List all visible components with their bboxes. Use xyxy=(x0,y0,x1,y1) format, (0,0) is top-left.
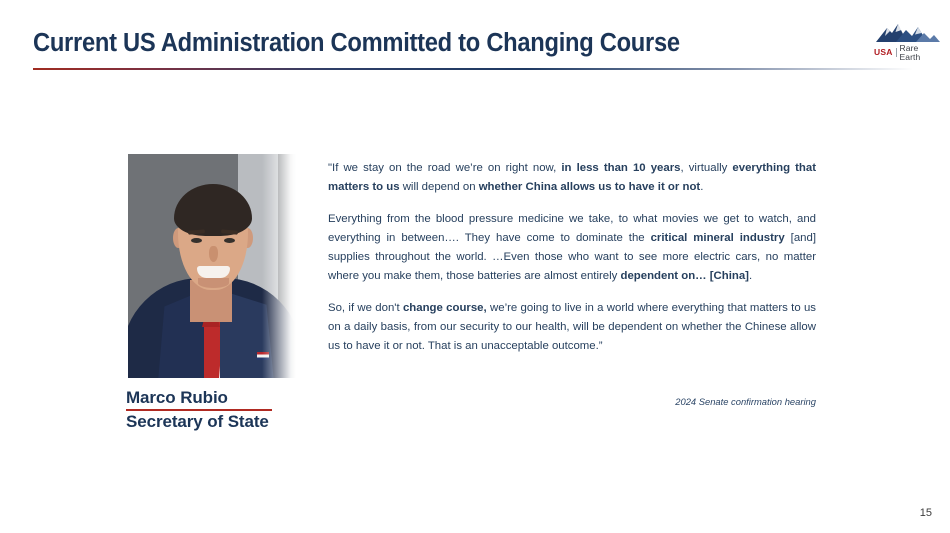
title-divider xyxy=(33,68,913,70)
quote-p2-seg2-bold: critical mineral industry xyxy=(651,232,785,244)
mountain-range-icon xyxy=(874,21,940,43)
portrait-image xyxy=(128,154,296,378)
quote-p1-seg7: . xyxy=(700,181,703,193)
quote-p3-seg2-bold: change course, xyxy=(403,302,487,314)
portrait-caption-name: Marco Rubio xyxy=(126,388,228,408)
portrait-nose xyxy=(209,246,218,262)
quote-p1-seg1: "If we stay on the road we’re on right n… xyxy=(328,162,561,174)
quote-p3-seg1: So, if we don't xyxy=(328,302,403,314)
logo-divider xyxy=(896,48,897,57)
quote-p2-seg5: . xyxy=(749,270,752,282)
quote-p1-seg2-bold: in less than 10 years xyxy=(561,162,680,174)
portrait-eye-left xyxy=(191,238,202,243)
logo-rare-earth-text: Rare Earth xyxy=(900,44,940,61)
portrait-photo xyxy=(128,154,296,378)
quote-paragraph-1: "If we stay on the road we’re on right n… xyxy=(328,159,816,197)
portrait-eye-right xyxy=(224,238,235,243)
usa-rare-earth-logo: USA Rare Earth xyxy=(874,21,940,57)
quote-p2-seg4-bold: dependent on… [China] xyxy=(621,270,749,282)
page-title: Current US Administration Committed to C… xyxy=(33,29,680,58)
quote-attribution: 2024 Senate confirmation hearing xyxy=(328,396,816,407)
slide: Current US Administration Committed to C… xyxy=(0,0,950,533)
portrait-mouth xyxy=(197,266,230,278)
quote-block: "If we stay on the road we’re on right n… xyxy=(328,159,816,356)
logo-wordmark: USA Rare Earth xyxy=(874,44,940,61)
quote-paragraph-2: Everything from the blood pressure medic… xyxy=(328,210,816,286)
quote-p1-seg5: will depend on xyxy=(400,181,479,193)
portrait-caption-underline xyxy=(126,409,272,411)
portrait-edge-fade xyxy=(262,154,296,378)
quote-paragraph-3: So, if we don't change course, we’re goi… xyxy=(328,299,816,356)
quote-p1-seg6-bold: whether China allows us to have it or no… xyxy=(479,181,701,193)
portrait-chin xyxy=(198,278,229,288)
page-number: 15 xyxy=(920,507,932,519)
quote-p1-seg3: , virtually xyxy=(680,162,732,174)
logo-usa-text: USA xyxy=(874,48,893,57)
portrait-caption-role: Secretary of State xyxy=(126,412,269,432)
